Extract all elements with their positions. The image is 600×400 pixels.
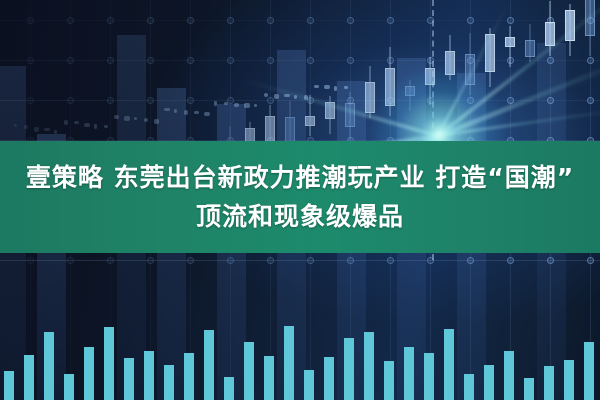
stock-market-banner-image: 壹策略 东莞出台新政力推潮玩产业 打造“国潮” 顶流和现象级爆品 bbox=[0, 0, 600, 400]
volume-bar bbox=[464, 374, 474, 400]
volume-bar bbox=[24, 355, 34, 400]
volume-bar bbox=[144, 351, 154, 400]
volume-bar bbox=[344, 338, 354, 400]
volume-bar bbox=[284, 326, 294, 400]
volume-bar bbox=[244, 342, 254, 400]
volume-bar bbox=[4, 371, 14, 400]
volume-bar bbox=[64, 374, 74, 400]
volume-bar bbox=[324, 357, 334, 400]
volume-bar bbox=[104, 327, 114, 400]
volume-bar bbox=[544, 366, 554, 400]
volume-bar bbox=[224, 377, 234, 400]
volume-bar bbox=[164, 365, 174, 400]
headline-line-1: 壹策略 东莞出台新政力推潮玩产业 打造“国潮” bbox=[26, 158, 574, 197]
volume-bar bbox=[124, 358, 134, 400]
volume-bar bbox=[384, 361, 394, 400]
volume-bar bbox=[184, 353, 194, 400]
volume-bar bbox=[444, 329, 454, 400]
volume-bar bbox=[304, 370, 314, 400]
volume-bar bbox=[404, 347, 414, 400]
volume-bar bbox=[524, 378, 534, 400]
volume-bar bbox=[264, 356, 274, 400]
volume-bar bbox=[564, 360, 574, 400]
headline-line-2: 顶流和现象级爆品 bbox=[196, 197, 404, 236]
volume-bar bbox=[84, 347, 94, 400]
volume-bar bbox=[504, 351, 514, 400]
volume-bar bbox=[44, 332, 54, 400]
volume-bar bbox=[584, 342, 594, 400]
headline-banner: 壹策略 东莞出台新政力推潮玩产业 打造“国潮” 顶流和现象级爆品 bbox=[0, 141, 600, 253]
volume-bar bbox=[484, 365, 494, 400]
volume-bar bbox=[364, 332, 374, 400]
volume-bar bbox=[424, 353, 434, 400]
volume-bar bbox=[204, 330, 214, 400]
